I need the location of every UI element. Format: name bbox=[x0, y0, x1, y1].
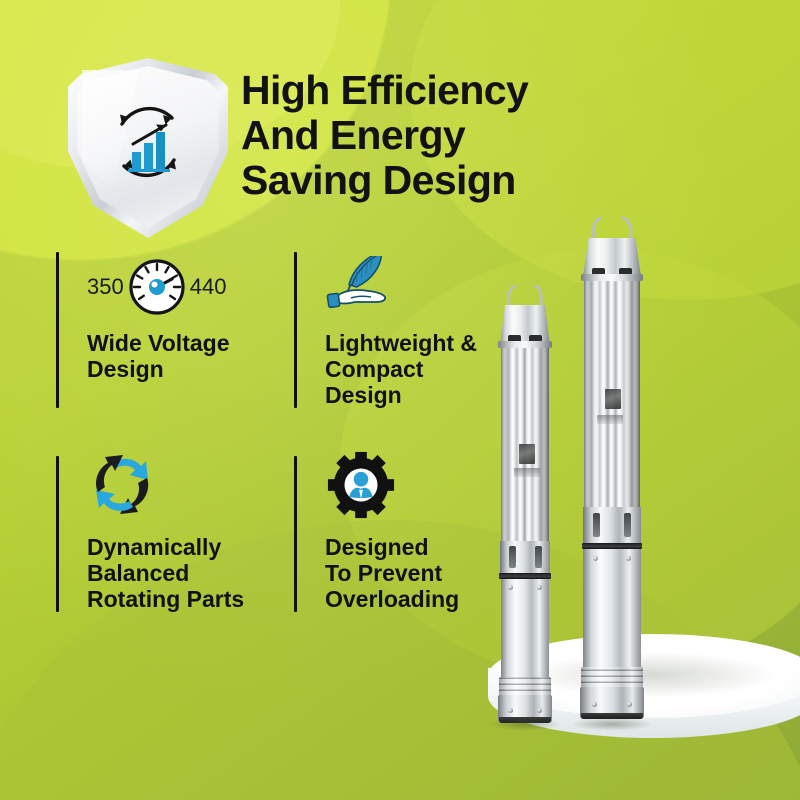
label-line: Balanced bbox=[87, 560, 244, 586]
coupling-slot bbox=[593, 513, 600, 537]
feature-grid: 350 bbox=[56, 252, 526, 612]
pump-base-ribs bbox=[581, 667, 642, 689]
feature-row-bottom: Dynamically Balanced Rotating Parts bbox=[56, 456, 526, 612]
brand-sublabel bbox=[514, 468, 540, 477]
label-line: Rotating Parts bbox=[87, 586, 244, 612]
submersible-pump-pair bbox=[470, 0, 800, 800]
feature-wide-voltage: 350 bbox=[56, 252, 294, 408]
voltage-gauge-icon bbox=[128, 258, 186, 316]
pump-cap bbox=[500, 305, 550, 345]
pump-stage-body bbox=[501, 348, 549, 543]
label-line: Designed bbox=[325, 534, 459, 560]
feature-divider bbox=[56, 456, 59, 612]
label-line: Dynamically bbox=[87, 534, 244, 560]
brand-label bbox=[519, 444, 535, 464]
brand-label bbox=[605, 389, 621, 409]
label-line: Overloading bbox=[325, 586, 459, 612]
cap-ring bbox=[498, 341, 551, 348]
label-line: Design bbox=[325, 382, 477, 408]
feature-label-prevent-overloading: Designed To Prevent Overloading bbox=[325, 534, 459, 612]
pump-base-foot bbox=[580, 687, 644, 719]
pump-stage-body bbox=[584, 281, 640, 509]
label-line: Lightweight & bbox=[325, 330, 477, 356]
rotation-arrows-icon bbox=[87, 450, 159, 520]
growth-cycle-chart-icon bbox=[100, 94, 196, 190]
voltage-min-value: 350 bbox=[87, 274, 124, 300]
feather-in-hand-icon bbox=[325, 256, 399, 316]
label-line: Design bbox=[87, 356, 230, 382]
feature-label-wide-voltage: Wide Voltage Design bbox=[87, 330, 230, 382]
pump-motor-body bbox=[501, 579, 550, 677]
brand-sublabel bbox=[597, 415, 623, 424]
feature-label-dynamically-balanced: Dynamically Balanced Rotating Parts bbox=[87, 534, 244, 612]
pump-cap bbox=[583, 238, 641, 278]
pump-large bbox=[578, 216, 646, 723]
coupling-slot bbox=[535, 546, 542, 567]
pump-motor-body bbox=[583, 549, 640, 667]
feature-label-lightweight-compact: Lightweight & Compact Design bbox=[325, 330, 477, 408]
coupling-slot bbox=[624, 513, 631, 537]
label-line: Wide Voltage bbox=[87, 330, 230, 356]
voltage-max-value: 440 bbox=[190, 274, 227, 300]
pedestal-contact-shadow bbox=[528, 652, 778, 698]
pump-ground-shadow bbox=[570, 717, 654, 731]
label-line: Compact bbox=[325, 356, 477, 382]
feature-row-top: 350 bbox=[56, 252, 526, 408]
pump-coupling bbox=[583, 507, 641, 545]
feature-divider bbox=[294, 252, 297, 408]
pump-ground-shadow bbox=[489, 717, 561, 731]
voltage-gauge-group: 350 bbox=[87, 258, 226, 316]
feature-divider bbox=[294, 456, 297, 612]
efficiency-shield-badge bbox=[68, 58, 228, 238]
pump-coupling bbox=[500, 541, 550, 575]
feature-dynamically-balanced: Dynamically Balanced Rotating Parts bbox=[56, 456, 294, 612]
gear-person-icon bbox=[325, 450, 397, 520]
feature-divider bbox=[56, 252, 59, 408]
cap-ring bbox=[581, 274, 644, 281]
coupling-slot bbox=[509, 546, 516, 567]
pump-base-ribs bbox=[499, 677, 551, 697]
label-line: To Prevent bbox=[325, 560, 459, 586]
pump-small bbox=[496, 283, 554, 723]
